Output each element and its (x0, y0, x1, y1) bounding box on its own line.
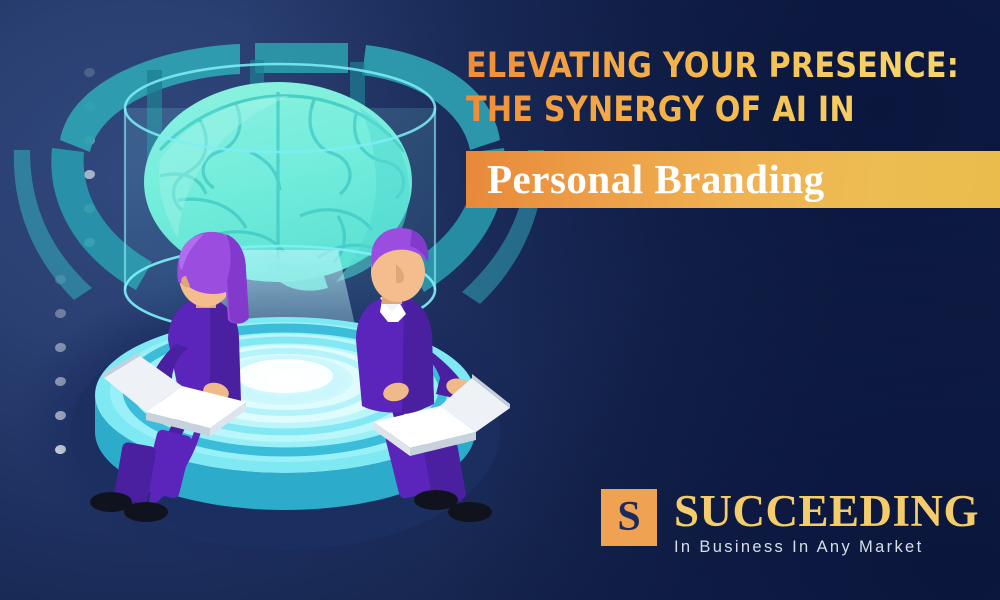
logo-mark-icon: S (601, 489, 657, 546)
logo-name: SUCCEEDING (674, 489, 979, 534)
headline-line-1: Elevating Your Presence: (466, 46, 959, 86)
logo-tagline: In Business In Any Market (674, 537, 979, 557)
subtitle-text: Personal Branding (466, 159, 825, 200)
subtitle-bar: Personal Branding (466, 151, 1000, 208)
logo-text-group: SUCCEEDING In Business In Any Market (674, 489, 979, 557)
headline-line-2: The Synergy of AI in (466, 88, 965, 132)
headline: Elevating Your Presence: The Synergy of … (466, 44, 965, 132)
shoe (124, 502, 168, 522)
shoe (448, 502, 492, 522)
banner-root: Elevating Your Presence: The Synergy of … (0, 0, 1000, 600)
brand-logo[interactable]: S SUCCEEDING In Business In Any Market (601, 489, 979, 557)
logo-mark-letter: S (617, 496, 640, 538)
